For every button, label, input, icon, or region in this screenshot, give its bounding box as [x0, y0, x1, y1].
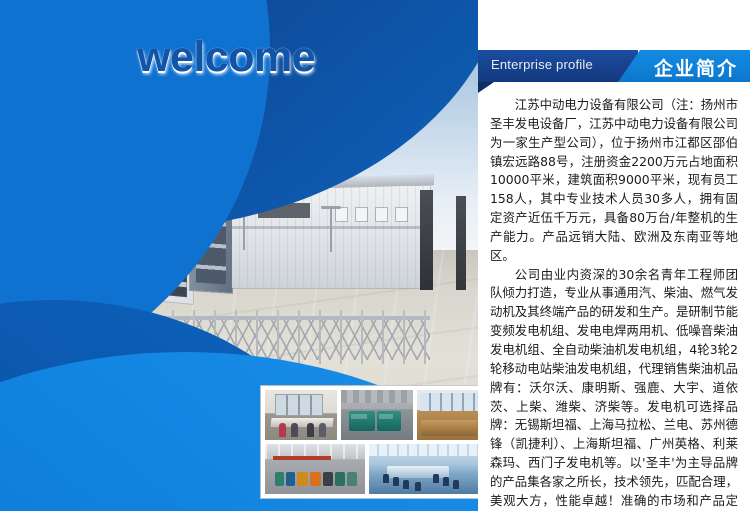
profile-paragraph-1: 江苏中动电力设备有限公司（注：扬州市圣丰发电设备厂，江苏中动电力设备有限公司为一… — [490, 96, 738, 266]
slide-canvas: 中动电力 江苏中动电力设备有限公司 Zhongdo — [0, 0, 750, 511]
gate-pillar-left — [420, 190, 433, 290]
lamp-post-2 — [330, 206, 332, 252]
profile-body-text: 江苏中动电力设备有限公司（注：扬州市圣丰发电设备厂，江苏中动电力设备有限公司为一… — [490, 96, 738, 511]
gallery-photo-conference-room[interactable] — [369, 444, 480, 494]
banner-english-label: Enterprise profile — [491, 57, 593, 72]
gate-pillar-right — [456, 196, 466, 290]
hero-photo-area: 中动电力 江苏中动电力设备有限公司 Zhongdo — [0, 0, 480, 511]
welcome-heading: welcome — [137, 36, 315, 79]
profile-paragraph-2: 公司由业内资深的30余名青年工程师团队倾力打造，专业从事通用汽、柴油、燃气发动机… — [490, 266, 738, 511]
enterprise-profile-panel: Enterprise profile 企业简介 江苏中动电力设备有限公司（注：扬… — [478, 0, 750, 511]
gallery-photo-reception-front-desk[interactable] — [417, 390, 480, 440]
photo-gallery-grid — [261, 386, 480, 498]
banner-corner-tab — [478, 82, 494, 93]
banner-chinese-label: 企业简介 — [654, 54, 738, 81]
section-banner: Enterprise profile 企业简介 — [478, 50, 750, 82]
gallery-photo-green-generator-sets[interactable] — [341, 390, 413, 440]
gallery-photo-office-meeting-room[interactable] — [265, 390, 337, 440]
gallery-photo-generator-warehouse[interactable] — [265, 444, 365, 494]
